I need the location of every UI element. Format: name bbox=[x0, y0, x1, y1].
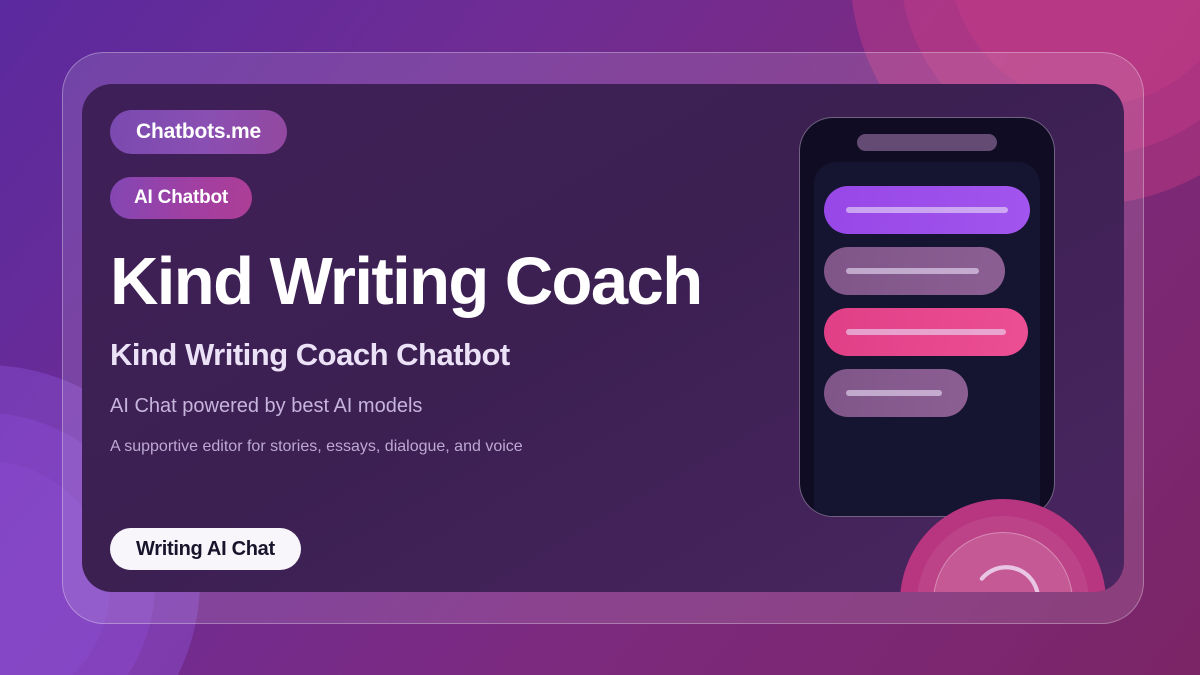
chat-bubble-text-placeholder bbox=[846, 268, 979, 274]
chat-bubble-outgoing bbox=[824, 186, 1030, 234]
phone-mockup bbox=[799, 117, 1055, 517]
hero-text-column: Chatbots.me AI Chatbot Kind Writing Coac… bbox=[110, 110, 750, 566]
chat-message-list bbox=[824, 186, 1030, 430]
page-subtitle: Kind Writing Coach Chatbot bbox=[110, 337, 750, 373]
phone-status-bar bbox=[857, 134, 997, 151]
promo-banner: Chatbots.me AI Chatbot Kind Writing Coac… bbox=[0, 0, 1200, 675]
chat-bubble-text-placeholder bbox=[846, 207, 1008, 213]
chat-bubble-text-placeholder bbox=[846, 329, 1006, 335]
hero-card: Chatbots.me AI Chatbot Kind Writing Coac… bbox=[82, 84, 1124, 592]
page-title: Kind Writing Coach bbox=[110, 248, 750, 315]
chat-bubble-text-placeholder bbox=[846, 390, 942, 396]
category-tag-pill[interactable]: AI Chatbot bbox=[110, 177, 252, 219]
description-text: A supportive editor for stories, essays,… bbox=[110, 438, 750, 456]
smiley-chat-icon bbox=[950, 549, 1056, 592]
brand-pill[interactable]: Chatbots.me bbox=[110, 110, 287, 154]
writing-ai-chat-button[interactable]: Writing AI Chat bbox=[110, 528, 301, 570]
chat-bubble-incoming bbox=[824, 247, 1005, 295]
chat-bubble-incoming bbox=[824, 369, 968, 417]
tagline-text: AI Chat powered by best AI models bbox=[110, 395, 750, 418]
chat-bubble-outgoing bbox=[824, 308, 1028, 356]
pill-spacer bbox=[110, 154, 750, 177]
phone-screen bbox=[814, 162, 1040, 516]
